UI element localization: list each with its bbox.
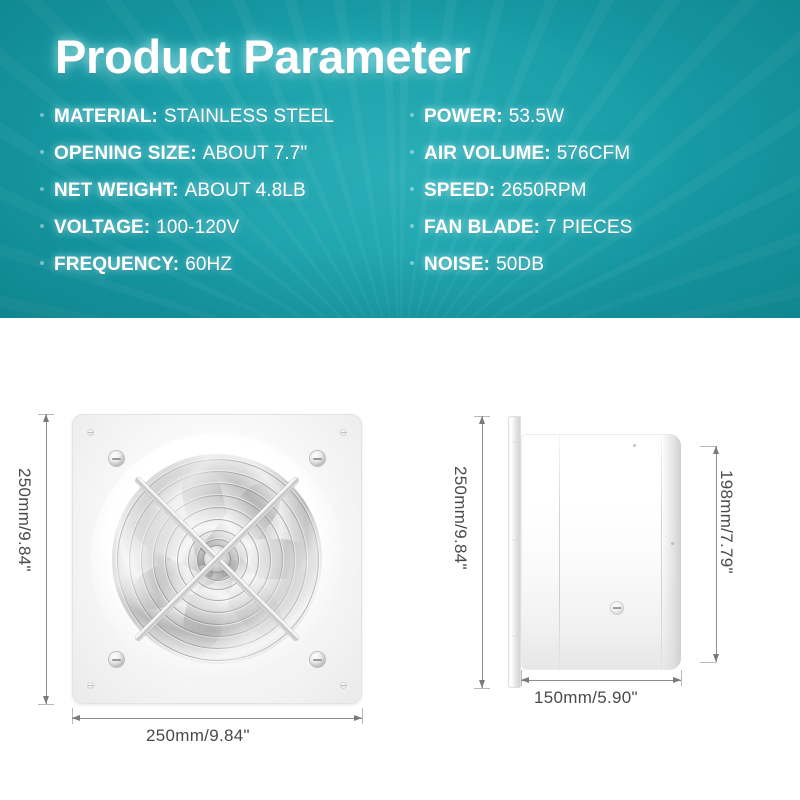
bullet-icon [40, 150, 44, 154]
plate-screw-icon [87, 682, 94, 689]
dim-arrow-icon [713, 446, 719, 454]
product-parameter-panel: Product Parameter MATERIAL: STAINLESS ST… [0, 0, 800, 318]
housing-seam [661, 434, 662, 670]
fan-housing-body [521, 434, 681, 670]
dim-arrow-icon [521, 677, 529, 683]
spec-value: ABOUT 4.8LB [185, 180, 306, 202]
spec-value: 53.5W [509, 106, 564, 128]
dim-label-front-height: 250mm/9.84" [14, 468, 34, 572]
bullet-icon [410, 261, 414, 265]
housing-end-cap [663, 434, 681, 670]
spec-label: AIR VOLUME: [424, 143, 551, 165]
dim-extension-tick [681, 670, 682, 686]
dim-label-side-depth: 150mm/5.90" [534, 688, 638, 708]
spec-label: NET WEIGHT: [54, 180, 179, 202]
bullet-icon [410, 224, 414, 228]
housing-detail-dot [671, 542, 674, 545]
spec-column-left: MATERIAL: STAINLESS STEEL OPENING SIZE: … [0, 106, 390, 291]
spec-row-net-weight: NET WEIGHT: ABOUT 4.8LB [40, 180, 390, 217]
spec-row-voltage: VOLTAGE: 100-120V [40, 217, 390, 254]
dim-extension-tick [700, 662, 716, 663]
spec-value: 576CFM [557, 143, 630, 165]
dim-extension-tick [362, 708, 363, 724]
fan-side-view [508, 416, 698, 688]
bullet-icon [40, 224, 44, 228]
spec-value: ABOUT 7.7" [203, 143, 308, 165]
dim-line-front-width [72, 718, 362, 719]
plate-screw-icon [340, 429, 347, 436]
dim-line-side-depth [521, 680, 681, 681]
bullet-icon [40, 113, 44, 117]
bullet-icon [410, 187, 414, 191]
flange-screw-icon [512, 438, 517, 443]
dim-label-front-width: 250mm/9.84" [146, 726, 250, 746]
spec-columns: MATERIAL: STAINLESS STEEL OPENING SIZE: … [0, 106, 800, 291]
plate-screw-icon [87, 429, 94, 436]
dim-arrow-icon [479, 680, 485, 688]
housing-detail-dot [633, 444, 636, 447]
page-title: Product Parameter [55, 33, 470, 80]
spec-label: MATERIAL: [54, 106, 158, 128]
guard-screw-icon [310, 451, 325, 466]
spec-row-speed: SPEED: 2650RPM [410, 180, 770, 217]
dim-extension-tick [474, 688, 490, 689]
dim-arrow-icon [673, 677, 681, 683]
dim-label-side-height: 250mm/9.84" [450, 466, 470, 570]
housing-seam [559, 434, 560, 670]
guard-screw-icon [109, 451, 124, 466]
dim-arrow-icon [479, 416, 485, 424]
plate-screw-icon [340, 682, 347, 689]
spec-label: OPENING SIZE: [54, 143, 197, 165]
bullet-icon [410, 113, 414, 117]
dim-arrow-icon [713, 654, 719, 662]
dimension-drawings: 250mm/9.84" 250mm/9.84" 250mm/9.84" 198m… [0, 318, 800, 800]
spec-value: 50DB [496, 254, 544, 276]
fan-front-view [72, 414, 362, 704]
bullet-icon [40, 261, 44, 265]
dim-line-front-height [46, 414, 47, 704]
bullet-icon [410, 150, 414, 154]
flange-screw-icon [512, 536, 517, 541]
spec-row-noise: NOISE: 50DB [410, 254, 770, 291]
spec-row-frequency: FREQUENCY: 60HZ [40, 254, 390, 291]
spec-column-right: POWER: 53.5W AIR VOLUME: 576CFM SPEED: 2… [390, 106, 770, 291]
spec-value: 7 PIECES [546, 217, 632, 239]
housing-screw-icon [611, 602, 623, 614]
dim-arrow-icon [43, 414, 49, 422]
dim-arrow-icon [354, 715, 362, 721]
spec-row-opening-size: OPENING SIZE: ABOUT 7.7" [40, 143, 390, 180]
mounting-flange [508, 416, 521, 688]
guard-screw-icon [109, 652, 124, 667]
spec-row-material: MATERIAL: STAINLESS STEEL [40, 106, 390, 143]
dim-line-side-height [482, 416, 483, 688]
guard-screw-icon [310, 652, 325, 667]
dim-arrow-icon [43, 696, 49, 704]
spec-label: SPEED: [424, 180, 495, 202]
spec-label: VOLTAGE: [54, 217, 150, 239]
dim-arrow-icon [72, 715, 80, 721]
spec-value: STAINLESS STEEL [164, 106, 334, 128]
flange-screw-icon [512, 632, 517, 637]
spec-row-air-volume: AIR VOLUME: 576CFM [410, 143, 770, 180]
spec-row-power: POWER: 53.5W [410, 106, 770, 143]
spec-label: FREQUENCY: [54, 254, 179, 276]
spec-label: POWER: [424, 106, 503, 128]
spec-value: 2650RPM [501, 180, 586, 202]
spec-value: 100-120V [156, 217, 239, 239]
bullet-icon [40, 187, 44, 191]
spec-row-fan-blade: FAN BLADE: 7 PIECES [410, 217, 770, 254]
spec-value: 60HZ [185, 254, 232, 276]
spec-label: NOISE: [424, 254, 490, 276]
spec-label: FAN BLADE: [424, 217, 540, 239]
dim-extension-tick [38, 704, 54, 705]
dim-label-side-diameter: 198mm/7.79" [716, 470, 736, 574]
